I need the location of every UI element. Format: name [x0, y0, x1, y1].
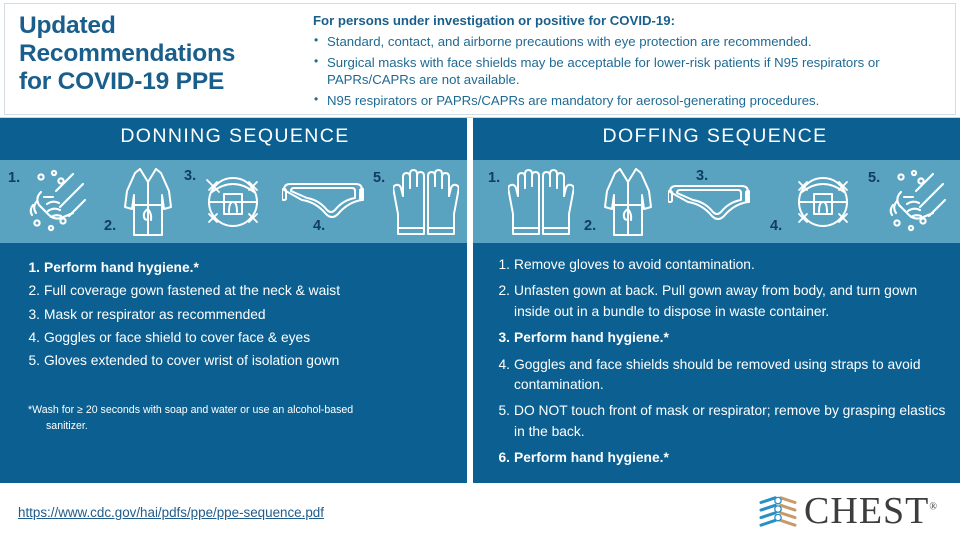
doffing-steps-panel: 1.Remove gloves to avoid contamination. … — [470, 243, 960, 483]
step-text: Mask or respirator as recommended — [44, 307, 266, 322]
page-title-line-2: Recommendations — [19, 40, 235, 67]
list-item: 1.Perform hand hygiene.* — [14, 257, 458, 279]
source-url-link[interactable]: https://www.cdc.gov/hai/pdfs/ppe/ppe-seq… — [18, 505, 324, 520]
list-item: 2.Full coverage gown fastened at the nec… — [14, 280, 458, 302]
list-item: 1.Remove gloves to avoid contamination. — [484, 255, 946, 275]
step-number: 1. — [18, 257, 40, 279]
chest-logo-text: CHEST® — [804, 492, 938, 530]
page-title-line-3: for COVID-19 PPE — [19, 68, 224, 95]
step-text: Goggles and face shields should be remov… — [514, 357, 921, 392]
step-number: 5. — [488, 401, 510, 421]
step-text: Goggles or face shield to cover face & e… — [44, 330, 310, 345]
donning-icon-number-1: 1. — [8, 170, 20, 186]
goggles-icon — [282, 180, 364, 222]
gown-icon — [122, 165, 174, 239]
doffing-icon-number-2: 2. — [584, 218, 596, 234]
page-title-line-1: Updated — [19, 12, 116, 39]
step-text: Perform hand hygiene.* — [514, 330, 669, 345]
step-number: 3. — [18, 304, 40, 326]
donning-steps-list: 1.Perform hand hygiene.* 2.Full coverage… — [0, 243, 470, 373]
chest-logo: CHEST® — [759, 492, 938, 530]
donning-section-title: DONNING SEQUENCE — [0, 125, 470, 148]
intro-box: For persons under investigation or posit… — [301, 4, 955, 114]
chest-logo-mark-icon — [759, 494, 797, 528]
doffing-icon-strip: 1. — [470, 160, 960, 243]
doffing-section-title: DOFFING SEQUENCE — [470, 125, 960, 148]
goggles-icon — [668, 182, 750, 224]
footnote-line-1: *Wash for ≥ 20 seconds with soap and wat… — [28, 404, 353, 416]
step-text: Perform hand hygiene.* — [514, 450, 669, 465]
donning-steps-panel: 1.Perform hand hygiene.* 2.Full coverage… — [0, 243, 470, 483]
step-number: 6. — [488, 448, 510, 468]
hand-hygiene-icon — [887, 168, 951, 234]
list-item: 3.Mask or respirator as recommended — [14, 304, 458, 326]
intro-bullet: Surgical masks with face shields may be … — [313, 54, 943, 89]
intro-heading: For persons under investigation or posit… — [313, 13, 943, 28]
step-number: 1. — [488, 255, 510, 275]
footnote-line-2: sanitizer. — [28, 419, 428, 435]
donning-icon-number-2: 2. — [104, 218, 116, 234]
step-text: DO NOT touch front of mask or respirator… — [514, 403, 945, 438]
donning-icon-number-5: 5. — [373, 170, 385, 186]
hand-hygiene-icon — [27, 168, 91, 234]
header-inner: Updated Recommendations for COVID-19 PPE… — [4, 3, 956, 115]
doffing-steps-list: 1.Remove gloves to avoid contamination. … — [470, 243, 960, 469]
step-text: Perform hand hygiene.* — [44, 260, 199, 275]
step-number: 3. — [488, 328, 510, 348]
donning-icon-number-3: 3. — [184, 168, 196, 184]
donning-footnote: *Wash for ≥ 20 seconds with soap and wat… — [28, 403, 428, 435]
doffing-icon-number-4: 4. — [770, 218, 782, 234]
step-text: Remove gloves to avoid contamination. — [514, 257, 755, 272]
step-number: 4. — [488, 355, 510, 375]
gloves-icon — [393, 166, 459, 238]
list-item: 3.Perform hand hygiene.* — [484, 328, 946, 348]
step-text: Full coverage gown fastened at the neck … — [44, 283, 340, 298]
intro-bullet: Standard, contact, and airborne precauti… — [313, 33, 943, 51]
step-text: Unfasten gown at back. Pull gown away fr… — [514, 283, 917, 318]
title-box: Updated Recommendations for COVID-19 PPE — [5, 4, 301, 114]
gown-icon — [602, 165, 654, 239]
step-number: 2. — [18, 280, 40, 302]
section-title-band: DONNING SEQUENCE DOFFING SEQUENCE — [0, 118, 960, 160]
list-item: 4.Goggles or face shield to cover face &… — [14, 327, 458, 349]
doffing-icon-number-1: 1. — [488, 170, 500, 186]
registered-mark: ® — [929, 501, 938, 512]
step-number: 5. — [18, 350, 40, 372]
list-item: 5.DO NOT touch front of mask or respirat… — [484, 401, 946, 442]
column-divider — [467, 118, 473, 483]
step-number: 4. — [18, 327, 40, 349]
list-item: 5.Gloves extended to cover wrist of isol… — [14, 350, 458, 372]
intro-bullet: N95 respirators or PAPRs/CAPRs are manda… — [313, 92, 943, 110]
header: Updated Recommendations for COVID-19 PPE… — [0, 0, 960, 118]
list-item: 2.Unfasten gown at back. Pull gown away … — [484, 281, 946, 322]
respirator-icon — [788, 166, 858, 236]
chest-wordmark: CHEST — [804, 490, 929, 532]
infographic-page: Updated Recommendations for COVID-19 PPE… — [0, 0, 960, 540]
doffing-icon-number-5: 5. — [868, 170, 880, 186]
step-number: 2. — [488, 281, 510, 301]
footer: https://www.cdc.gov/hai/pdfs/ppe/ppe-seq… — [0, 483, 960, 540]
donning-icon-strip: 1. 2. — [0, 160, 470, 243]
step-text: Gloves extended to cover wrist of isolat… — [44, 353, 339, 368]
list-item: 4.Goggles and face shields should be rem… — [484, 355, 946, 396]
intro-bullet-list: Standard, contact, and airborne precauti… — [313, 33, 943, 110]
respirator-icon — [198, 166, 268, 236]
page-title: Updated Recommendations for COVID-19 PPE — [19, 12, 291, 97]
gloves-icon — [508, 166, 574, 238]
list-item: 6.Perform hand hygiene.* — [484, 448, 946, 468]
